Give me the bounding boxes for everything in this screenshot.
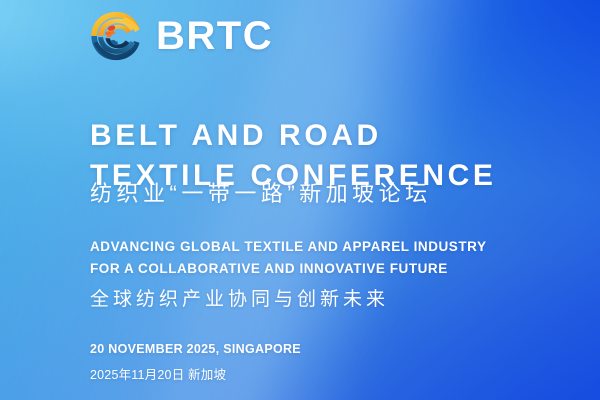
page-subtitle: ADVANCING GLOBAL TEXTILE AND APPAREL IND… [90, 236, 487, 281]
page-subtitle-line-2: FOR A COLLABORATIVE AND INNOVATIVE FUTUR… [90, 258, 487, 280]
brand-wordmark: BRTC [156, 16, 273, 56]
page-subtitle-chinese: 全球纺织产业协同与创新未来 [90, 288, 389, 313]
brand-lockup: BRTC [88, 8, 273, 64]
event-date-location-chinese: 2025年11月20日 新加坡 [90, 368, 301, 383]
page-title-line-1: BELT AND ROAD [90, 116, 497, 156]
event-date-location-english: 20 NOVEMBER 2025, SINGAPORE [90, 342, 301, 357]
brtc-sun-wave-circle-logo [88, 8, 144, 64]
poster-content: BRTC BELT AND ROAD TEXTILE CONFERENCE 纺织… [0, 0, 600, 400]
conference-poster: BRTC BELT AND ROAD TEXTILE CONFERENCE 纺织… [0, 0, 600, 400]
event-details: 20 NOVEMBER 2025, SINGAPORE 2025年11月20日 … [90, 342, 301, 383]
page-title-chinese: 纺织业“一带一路”新加坡论坛 [90, 180, 432, 208]
page-subtitle-line-1: ADVANCING GLOBAL TEXTILE AND APPAREL IND… [90, 236, 487, 258]
